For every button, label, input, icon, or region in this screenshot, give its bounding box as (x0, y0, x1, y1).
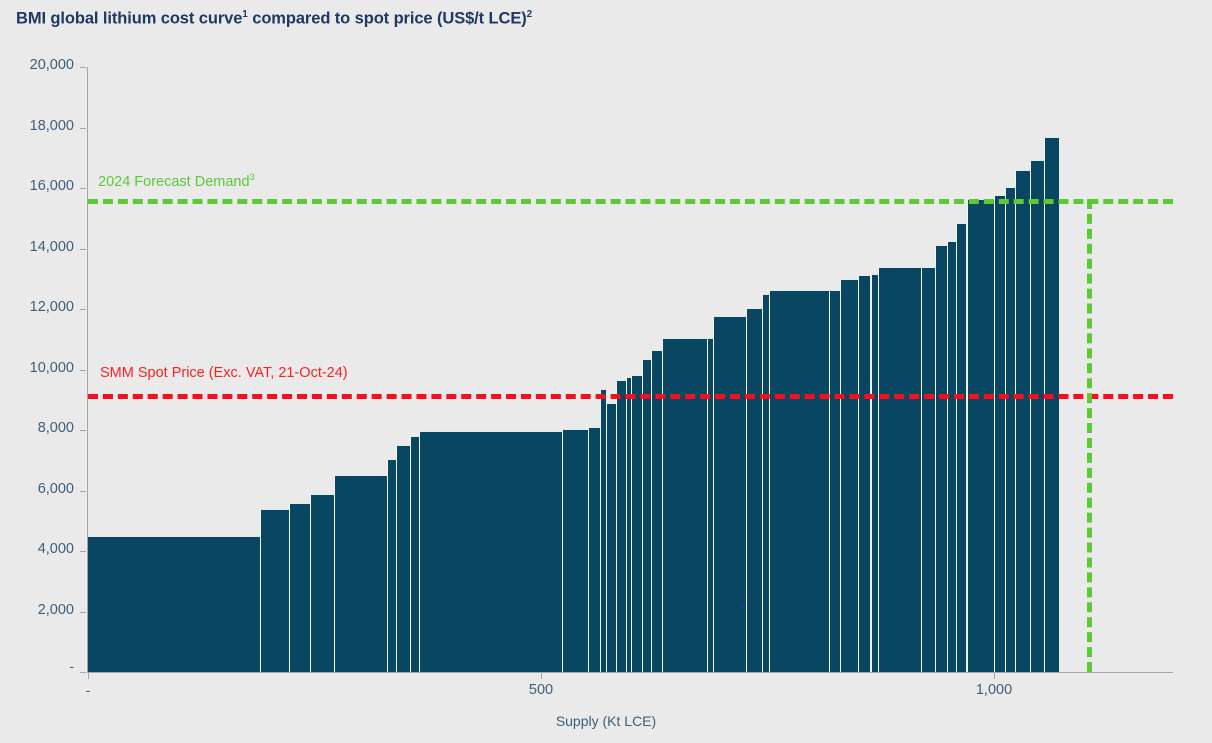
y-axis-labels: 20,00018,00016,00014,00012,00010,0008,00… (0, 0, 74, 743)
cost-curve-bar (88, 536, 260, 672)
x-axis-title: Supply (Kt LCE) (0, 713, 1212, 729)
cost-curve-bar (387, 459, 396, 672)
cost-curve-bar (947, 241, 956, 672)
cost-curve-bar (994, 195, 1005, 672)
cost-curve-bar (840, 279, 858, 672)
cost-curve-bar (746, 308, 761, 672)
cost-curve-bar (956, 223, 967, 673)
cost-curve-bar (1005, 187, 1016, 673)
y-axis-tick (80, 249, 86, 250)
cost-curve-bar (396, 445, 410, 672)
forecast-demand-footnote-3: 3 (250, 172, 255, 183)
y-axis-tick-label: - (2, 658, 74, 674)
y-axis-tick-label: 8,000 (2, 420, 74, 436)
y-axis-tick (80, 67, 86, 68)
y-axis-tick (80, 370, 86, 371)
cost-curve-bar (289, 503, 310, 672)
cost-curve-bar (631, 375, 642, 672)
forecast-demand-label: 2024 Forecast Demand3 (98, 172, 255, 190)
lithium-cost-curve-chart: BMI global lithium cost curve1 compared … (0, 0, 1212, 743)
cost-curve-bar (878, 267, 921, 672)
cost-curve-bar (871, 274, 878, 672)
cost-curve-bar (616, 380, 626, 672)
forecast-demand-reference-line (88, 199, 1173, 204)
x-axis-tick-label: - (86, 682, 91, 698)
cost-curve-bar (713, 316, 747, 672)
cost-curve-bar (334, 475, 387, 672)
cost-curve-bar (410, 436, 418, 672)
cost-curve-bar (762, 294, 769, 672)
page-title: BMI global lithium cost curve1 compared … (16, 9, 532, 29)
chart-title-footnote-2: 2 (527, 9, 532, 20)
cost-curve-bar (606, 403, 616, 672)
y-axis-tick-label: 18,000 (2, 118, 74, 134)
x-axis-tick-label: 500 (529, 682, 553, 698)
cost-curve-bar (858, 275, 871, 672)
cost-curve-bar (829, 290, 840, 672)
cost-curve-bar (642, 359, 651, 672)
cost-curve-bar (921, 267, 935, 672)
y-axis-tick (80, 188, 86, 189)
y-axis-tick-label: 16,000 (2, 178, 74, 194)
x-axis-line (87, 672, 1173, 673)
y-axis-tick-label: 14,000 (2, 239, 74, 255)
y-axis-tick (80, 672, 86, 673)
y-axis-tick (80, 128, 86, 129)
y-axis-tick (80, 612, 86, 613)
cost-curve-bar (662, 338, 706, 672)
cost-curve-bar (967, 199, 994, 672)
x-axis-tick (88, 673, 89, 679)
cost-curve-bar (562, 429, 588, 673)
chart-title-main-b: compared to spot price (US$/t LCE) (248, 10, 527, 28)
cost-curve-bar (1044, 137, 1058, 672)
y-axis-tick-label: 6,000 (2, 481, 74, 497)
y-axis-tick-label: 2,000 (2, 602, 74, 618)
y-axis-tick (80, 491, 86, 492)
x-axis-tick (994, 673, 995, 679)
y-axis-tick-label: 20,000 (2, 57, 74, 73)
cost-curve-bar (769, 290, 829, 672)
cost-curve-bar (310, 494, 334, 672)
cost-curve-bar (588, 427, 600, 672)
y-axis-tick (80, 551, 86, 552)
y-axis-tick (80, 430, 86, 431)
forecast-demand-label-text: 2024 Forecast Demand (98, 173, 250, 189)
cost-curve-bar (935, 245, 947, 672)
cost-curve-bar (1015, 170, 1029, 672)
spot-price-reference-line (88, 394, 1173, 399)
y-axis-tick (80, 309, 86, 310)
y-axis-tick-label: 12,000 (2, 299, 74, 315)
x-axis-tick (541, 673, 542, 679)
y-axis-tick-label: 10,000 (2, 360, 74, 376)
cost-curve-bar (419, 431, 562, 672)
cost-curve-bar (260, 509, 289, 672)
stray-marker-dot (741, 605, 744, 608)
cost-curve-bar (1030, 160, 1044, 672)
forecast-demand-vertical-line (1087, 199, 1092, 672)
spot-price-label: SMM Spot Price (Exc. VAT, 21-Oct-24) (100, 365, 348, 381)
x-axis-tick-label: 1,000 (976, 682, 1012, 698)
y-axis-tick-label: 4,000 (2, 541, 74, 557)
